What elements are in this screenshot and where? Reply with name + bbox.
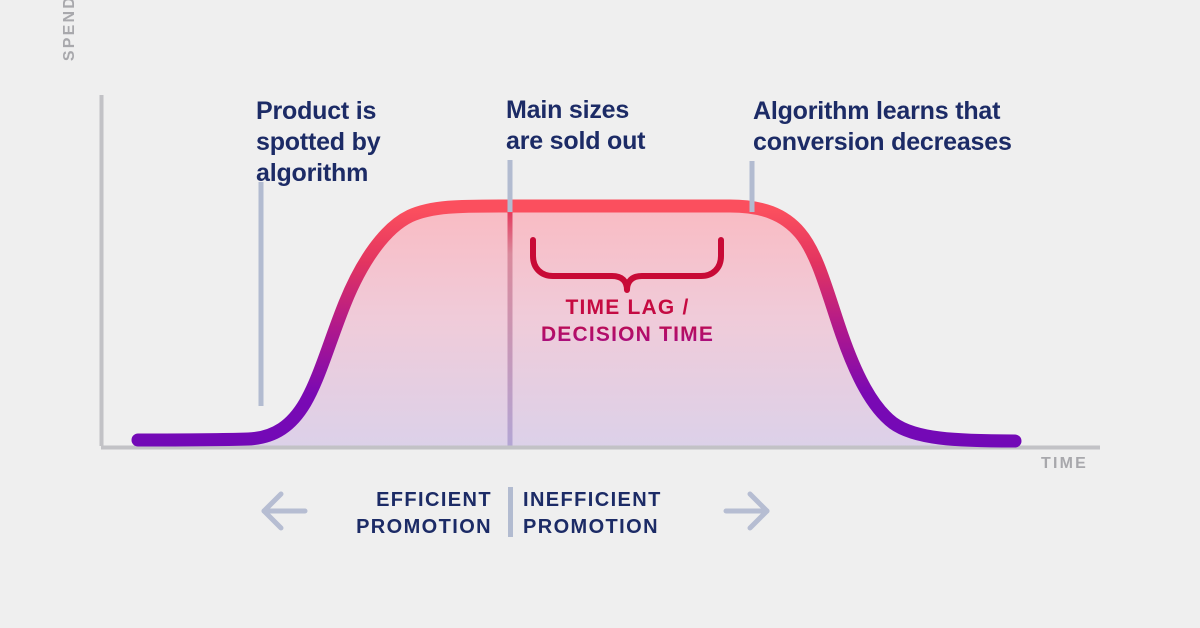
segment-label-inefficient-promotion: INEFFICIENT PROMOTION	[523, 487, 723, 541]
x-axis-label: TIME	[1041, 455, 1088, 473]
annotation-product-spotted: Product is spotted by algorithm	[256, 96, 486, 188]
chart-canvas: SPEND TIME Product is spotted by algorit…	[0, 0, 1200, 628]
segment-label-efficient-promotion: EFFICIENT PROMOTION	[296, 487, 492, 541]
annotation-main-sizes-sold-out: Main sizes are sold out	[506, 95, 726, 157]
time-lag-label: TIME LAG / DECISION TIME	[506, 294, 749, 349]
y-axis-label: SPEND	[60, 0, 80, 115]
right-arrow-icon	[726, 494, 767, 528]
annotation-algorithm-learns: Algorithm learns that conversion decreas…	[753, 96, 1083, 158]
